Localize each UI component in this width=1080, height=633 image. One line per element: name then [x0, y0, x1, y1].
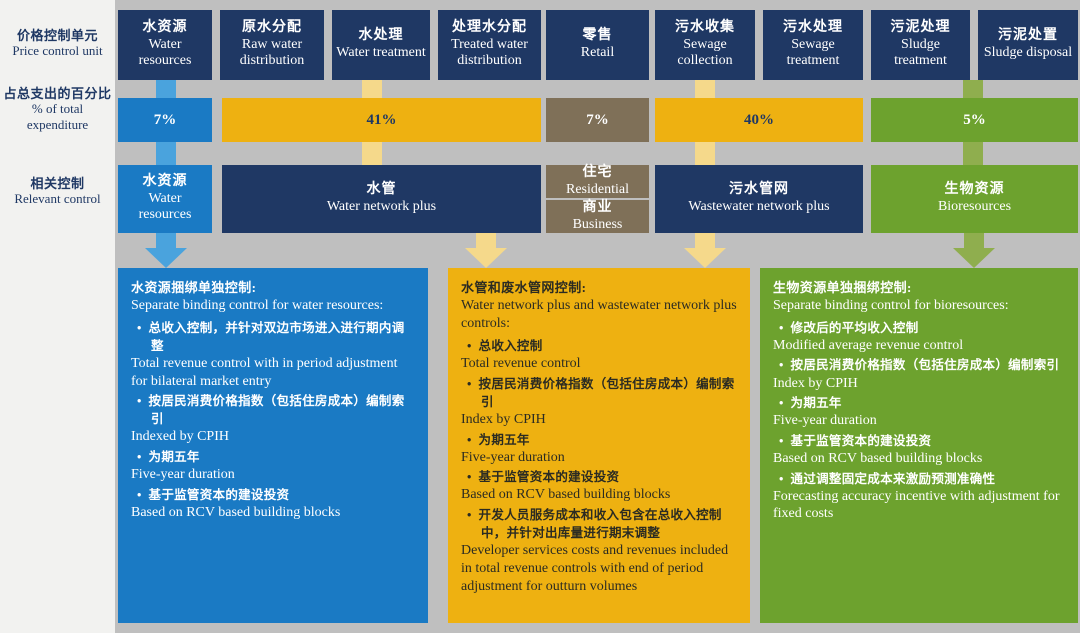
control-label-en: Bioresources	[938, 199, 1011, 216]
bullet-cn: 为期五年	[131, 448, 415, 466]
panel-heading-en: Separate binding control for bioresource…	[773, 297, 1065, 315]
list-item: 基于监管资本的建设投资 Based on RCV based building …	[773, 432, 1065, 468]
unit-label-cn: 零售	[583, 28, 613, 45]
row-label-relevant-control-cn: 相关控制	[0, 176, 115, 191]
bullet-en: Total revenue control with in period adj…	[131, 355, 415, 390]
unit-label-cn: 水处理	[359, 28, 404, 45]
bullet-cn: 总收入控制，并针对双边市场进入进行期内调整	[131, 319, 415, 355]
expenditure-share-value: 7%	[154, 112, 177, 129]
row-label-expenditure-share-cn: 占总支出的百分比	[0, 86, 115, 101]
bullet-cn: 为期五年	[773, 394, 1065, 412]
expenditure-share-value: 41%	[367, 112, 397, 129]
panel-bullet-list: 总收入控制 Total revenue control 按居民消费价格指数（包括…	[461, 337, 737, 595]
expenditure-share-bioresources[interactable]: 5%	[871, 98, 1078, 142]
unit-label-cn: 污泥处理	[891, 20, 951, 37]
relevant-control-water-network-plus[interactable]: 水管 Water network plus	[222, 165, 541, 233]
bullet-cn: 通过调整固定成本来激励预测准确性	[773, 470, 1065, 488]
list-item: 基于监管资本的建设投资 Based on RCV based building …	[131, 486, 415, 522]
bullet-en: Total revenue control	[461, 355, 737, 373]
price-control-unit-retail[interactable]: 零售 Retail	[546, 10, 649, 80]
panel-bullet-list: 修改后的平均收入控制 Modified average revenue cont…	[773, 319, 1065, 523]
control-label-en: Wastewater network plus	[688, 199, 829, 216]
price-control-unit-treated-water-distribution[interactable]: 处理水分配 Treated water distribution	[438, 10, 541, 80]
bullet-en: Five-year duration	[461, 449, 737, 467]
row-label-price-control-unit-cn: 价格控制单元	[0, 28, 115, 43]
relevant-control-water-resources[interactable]: 水资源 Water resources	[118, 165, 212, 233]
list-item: 基于监管资本的建设投资 Based on RCV based building …	[461, 468, 737, 504]
unit-label-cn: 原水分配	[242, 20, 302, 37]
relevant-control-residential[interactable]: 住宅 Residential	[546, 165, 649, 198]
row-label-expenditure-share-en: % of total expenditure	[0, 101, 115, 132]
list-item: 修改后的平均收入控制 Modified average revenue cont…	[773, 319, 1065, 355]
unit-label-cn: 污泥处置	[998, 28, 1058, 45]
list-item: 为期五年 Five-year duration	[461, 431, 737, 467]
flow-arrow-down-bioresources	[946, 233, 1002, 268]
panel-heading-en: Water network plus and wastewater networ…	[461, 297, 737, 333]
list-item: 按居民消费价格指数（包括住房成本）编制索引 Indexed by CPIH	[131, 392, 415, 446]
bullet-cn: 开发人员服务成本和收入包含在总收入控制中，并针对出库量进行期末调整	[461, 506, 737, 542]
row-label-price-control-unit-en: Price control unit	[0, 43, 115, 58]
unit-label-en: Water resources	[121, 37, 209, 71]
expenditure-share-water-resources[interactable]: 7%	[118, 98, 212, 142]
flow-arrow-down-wastewater-network	[677, 233, 733, 268]
unit-label-en: Sewage treatment	[766, 37, 860, 71]
list-item: 开发人员服务成本和收入包含在总收入控制中，并针对出库量进行期末调整 Develo…	[461, 506, 737, 595]
panel-heading-cn: 水资源捆绑单独控制:	[131, 279, 415, 297]
list-item: 总收入控制，并针对双边市场进入进行期内调整 Total revenue cont…	[131, 319, 415, 391]
bullet-cn: 修改后的平均收入控制	[773, 319, 1065, 337]
price-control-unit-sewage-treatment[interactable]: 污水处理 Sewage treatment	[763, 10, 863, 80]
control-label-cn: 污水管网	[729, 182, 789, 199]
bullet-cn: 基于监管资本的建设投资	[131, 486, 415, 504]
bullet-en: Based on RCV based building blocks	[773, 450, 1065, 468]
row-label-relevant-control: 相关控制 Relevant control	[0, 176, 115, 207]
control-label-en: Residential	[566, 182, 629, 199]
control-label-en: Water network plus	[327, 199, 436, 216]
detail-panel-water-resources: 水资源捆绑单独控制: Separate binding control for …	[118, 268, 428, 623]
unit-label-en: Treated water distribution	[441, 37, 538, 71]
expenditure-share-water-network[interactable]: 41%	[222, 98, 541, 142]
bullet-en: Forecasting accuracy incentive with adju…	[773, 488, 1065, 523]
bullet-en: Five-year duration	[773, 412, 1065, 430]
relevant-control-bioresources[interactable]: 生物资源 Bioresources	[871, 165, 1078, 233]
row-label-expenditure-share: 占总支出的百分比 % of total expenditure	[0, 86, 115, 132]
control-label-en: Water resources	[121, 191, 209, 225]
expenditure-share-value: 5%	[963, 112, 986, 129]
relevant-control-business[interactable]: 商业 Business	[546, 200, 649, 233]
list-item: 总收入控制 Total revenue control	[461, 337, 737, 373]
control-label-cn: 生物资源	[945, 182, 1005, 199]
control-label-cn: 水资源	[143, 174, 188, 191]
price-control-unit-sewage-collection[interactable]: 污水收集 Sewage collection	[655, 10, 755, 80]
list-item: 为期五年 Five-year duration	[773, 394, 1065, 430]
bullet-en: Based on RCV based building blocks	[461, 486, 737, 504]
list-item: 为期五年 Five-year duration	[131, 448, 415, 484]
expenditure-share-retail[interactable]: 7%	[546, 98, 649, 142]
diagram-canvas: 价格控制单元 Price control unit 占总支出的百分比 % of …	[0, 0, 1080, 633]
bullet-cn: 基于监管资本的建设投资	[461, 468, 737, 486]
expenditure-share-value: 7%	[586, 112, 609, 129]
control-label-en: Business	[573, 217, 623, 234]
panel-heading-cn: 生物资源单独捆绑控制:	[773, 279, 1065, 297]
expenditure-share-wastewater-network[interactable]: 40%	[655, 98, 863, 142]
bullet-cn: 为期五年	[461, 431, 737, 449]
flow-arrow-down-water-resources	[138, 233, 194, 268]
bullet-cn: 基于监管资本的建设投资	[773, 432, 1065, 450]
bullet-en: Based on RCV based building blocks	[131, 504, 415, 522]
row-label-price-control-unit: 价格控制单元 Price control unit	[0, 28, 115, 59]
flow-arrow-down-water-network	[458, 233, 514, 268]
bullet-cn: 按居民消费价格指数（包括住房成本）编制索引	[773, 356, 1065, 374]
control-label-cn: 住宅	[583, 165, 613, 182]
bullet-en: Index by CPIH	[461, 411, 737, 429]
control-label-cn: 水管	[367, 182, 397, 199]
unit-label-en: Water treatment	[336, 45, 425, 62]
unit-label-cn: 污水收集	[675, 20, 735, 37]
unit-label-en: Sludge disposal	[984, 45, 1072, 62]
relevant-control-wastewater-network-plus[interactable]: 污水管网 Wastewater network plus	[655, 165, 863, 233]
panel-bullet-list: 总收入控制，并针对双边市场进入进行期内调整 Total revenue cont…	[131, 319, 415, 522]
bullet-cn: 总收入控制	[461, 337, 737, 355]
panel-heading-en: Separate binding control for water resou…	[131, 297, 415, 315]
detail-panel-bioresources: 生物资源单独捆绑控制: Separate binding control for…	[760, 268, 1078, 623]
row-label-relevant-control-en: Relevant control	[0, 191, 115, 206]
bullet-en: Developer services costs and revenues in…	[461, 542, 737, 595]
list-item: 通过调整固定成本来激励预测准确性 Forecasting accuracy in…	[773, 470, 1065, 523]
bullet-en: Modified average revenue control	[773, 337, 1065, 355]
price-control-unit-raw-water-distribution[interactable]: 原水分配 Raw water distribution	[220, 10, 324, 80]
unit-label-en: Sewage collection	[658, 37, 752, 71]
bullet-en: Five-year duration	[131, 466, 415, 484]
price-control-unit-sludge-treatment[interactable]: 污泥处理 Sludge treatment	[871, 10, 970, 80]
panel-heading-cn: 水管和废水管网控制:	[461, 279, 737, 297]
detail-panel-network-plus: 水管和废水管网控制: Water network plus and wastew…	[448, 268, 750, 623]
control-label-cn: 商业	[583, 200, 613, 217]
list-item: 按居民消费价格指数（包括住房成本）编制索引 Index by CPIH	[461, 375, 737, 429]
unit-label-cn: 水资源	[143, 20, 188, 37]
unit-label-cn: 污水处理	[783, 20, 843, 37]
unit-label-en: Raw water distribution	[223, 37, 321, 71]
bullet-cn: 按居民消费价格指数（包括住房成本）编制索引	[461, 375, 737, 411]
price-control-unit-water-resources[interactable]: 水资源 Water resources	[118, 10, 212, 80]
list-item: 按居民消费价格指数（包括住房成本）编制索引 Index by CPIH	[773, 356, 1065, 392]
expenditure-share-value: 40%	[744, 112, 774, 129]
price-control-unit-sludge-disposal[interactable]: 污泥处置 Sludge disposal	[978, 10, 1078, 80]
bullet-en: Index by CPIH	[773, 375, 1065, 393]
bullet-en: Indexed by CPIH	[131, 428, 415, 446]
price-control-unit-water-treatment[interactable]: 水处理 Water treatment	[332, 10, 430, 80]
unit-label-en: Sludge treatment	[874, 37, 967, 71]
bullet-cn: 按居民消费价格指数（包括住房成本）编制索引	[131, 392, 415, 428]
unit-label-cn: 处理水分配	[452, 20, 527, 37]
unit-label-en: Retail	[581, 45, 614, 62]
